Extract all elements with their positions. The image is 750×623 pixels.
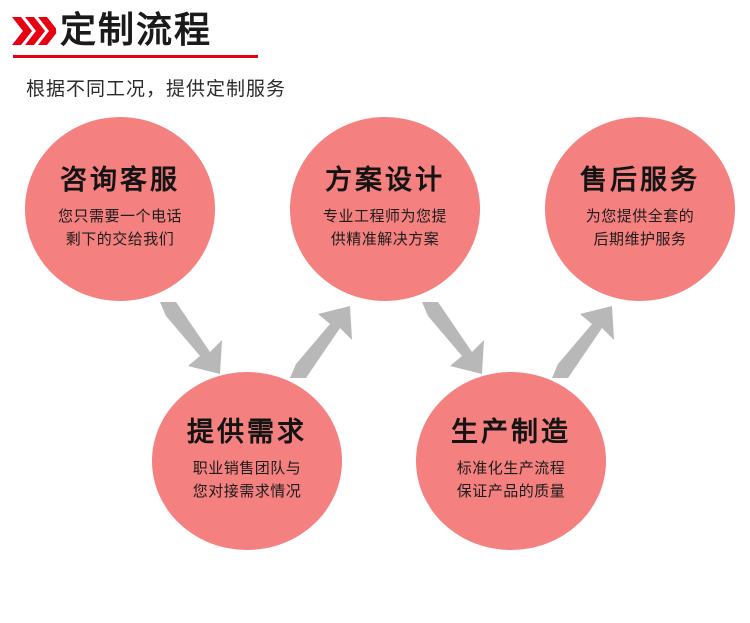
flow-node-title: 咨询客服 [60, 166, 180, 196]
flow-node-description-line2: 供精准解决方案 [323, 229, 447, 252]
flow-node-description-line1: 为您提供全套的 [586, 206, 695, 229]
flow-node-title: 提供需求 [187, 418, 307, 448]
flow-node-description-line2: 后期维护服务 [586, 229, 695, 252]
flow-node-production-manufacturing: 生产制造 标准化生产流程 保证产品的质量 [416, 372, 606, 550]
arrow-up-right-icon [280, 300, 358, 380]
flow-node-description-line1: 专业工程师为您提 [323, 206, 447, 229]
flow-node-description: 专业工程师为您提 供精准解决方案 [323, 206, 447, 253]
flow-node-title: 售后服务 [580, 166, 700, 196]
arrow-up-right-icon [542, 300, 620, 380]
flow-node-description-line1: 您只需要一个电话 [58, 206, 182, 229]
flow-node-after-sales-service: 售后服务 为您提供全套的 后期维护服务 [545, 117, 735, 301]
flow-node-solution-design: 方案设计 专业工程师为您提 供精准解决方案 [290, 117, 480, 301]
flow-node-description-line2: 您对接需求情况 [193, 481, 302, 504]
flow-node-title: 方案设计 [325, 166, 445, 196]
flow-node-description: 为您提供全套的 后期维护服务 [586, 206, 695, 253]
flow-node-description-line1: 职业销售团队与 [193, 458, 302, 481]
flow-node-description-line1: 标准化生产流程 [457, 458, 566, 481]
flow-node-description-line2: 剩下的交给我们 [58, 229, 182, 252]
flow-node-description-line2: 保证产品的质量 [457, 481, 566, 504]
flow-node-consult-service: 咨询客服 您只需要一个电话 剩下的交给我们 [25, 117, 215, 301]
flow-node-description: 职业销售团队与 您对接需求情况 [193, 458, 302, 505]
flow-node-provide-requirements: 提供需求 职业销售团队与 您对接需求情况 [152, 372, 342, 550]
flow-node-description: 标准化生产流程 保证产品的质量 [457, 458, 566, 505]
flow-node-title: 生产制造 [451, 418, 571, 448]
custom-process-flow-diagram: 咨询客服 您只需要一个电话 剩下的交给我们 方案设计 专业工程师为您提 供精准解… [0, 0, 750, 623]
arrow-down-right-icon [412, 300, 490, 380]
flow-node-description: 您只需要一个电话 剩下的交给我们 [58, 206, 182, 253]
arrow-down-right-icon [150, 300, 228, 380]
